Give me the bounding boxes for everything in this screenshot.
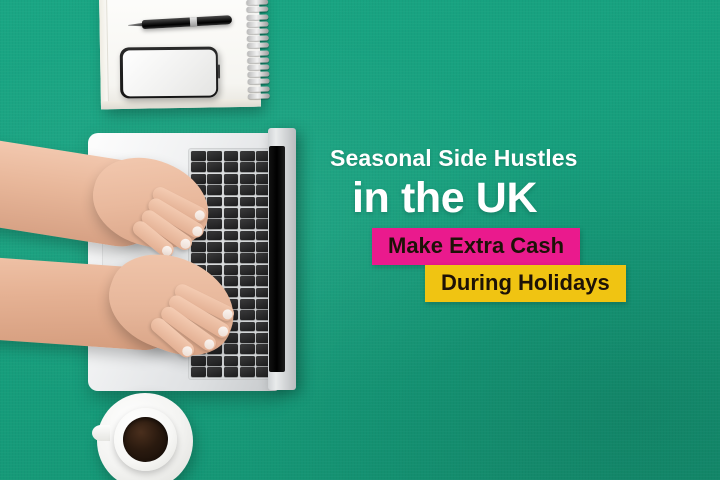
pen-ring	[190, 17, 197, 26]
fingernail	[193, 208, 206, 221]
pink-highlight-row: Make Extra Cash	[372, 228, 630, 265]
headline-line-2: in the UK	[352, 176, 630, 221]
laptop-display	[269, 146, 285, 372]
yellow-highlight-row: During Holidays	[425, 265, 630, 302]
fingernail	[221, 307, 234, 320]
fingernail	[203, 337, 217, 351]
laptop-screen-panel	[268, 128, 296, 390]
cup-handle	[92, 425, 110, 441]
highlight-during-holidays: During Holidays	[425, 265, 626, 302]
coffee-saucer	[97, 393, 193, 480]
fingernail	[216, 324, 230, 338]
smartphone-screen	[122, 49, 215, 96]
smartphone-side-button	[217, 64, 219, 78]
notebook-spiral-binding	[244, 0, 270, 101]
headline-text-block: Seasonal Side Hustles in the UK Make Ext…	[330, 146, 630, 302]
notebook-left-edge	[99, 0, 109, 109]
seasonal-side-hustles-banner: Seasonal Side Hustles in the UK Make Ext…	[0, 0, 720, 480]
coffee-cup	[114, 408, 177, 471]
coffee-liquid	[123, 417, 168, 462]
highlight-make-extra-cash: Make Extra Cash	[372, 228, 580, 265]
headline-line-1: Seasonal Side Hustles	[330, 146, 630, 172]
smartphone	[120, 46, 219, 98]
